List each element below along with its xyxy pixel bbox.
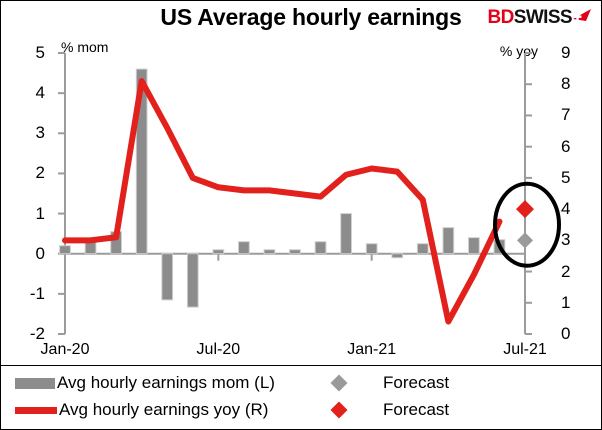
- legend-gray-diamond-icon: [331, 375, 348, 392]
- legend-bar-swatch: [15, 378, 55, 389]
- legend-line-swatch: [15, 407, 57, 414]
- chart-page: US Average hourly earnings BDSWISS % mom…: [0, 0, 602, 430]
- x-axis-tick: Jan-20: [41, 341, 90, 359]
- bar: [392, 254, 403, 258]
- x-axis-tick: Jul-21: [503, 341, 547, 359]
- legend-item-line-label: Avg hourly earnings yoy (R): [59, 400, 268, 420]
- forecast-marker-yoy: [516, 200, 534, 218]
- chart-legend: Avg hourly earnings mom (L) Avg hourly e…: [1, 365, 602, 429]
- bar: [366, 244, 377, 254]
- x-axis-tick: Jan-21: [347, 341, 396, 359]
- bar: [417, 244, 428, 254]
- legend-item-forecast-mom: Forecast: [319, 370, 449, 396]
- bar: [290, 250, 301, 254]
- legend-red-diamond-icon: [331, 402, 348, 419]
- legend-item-line: Avg hourly earnings yoy (R): [15, 397, 268, 423]
- bar: [213, 250, 224, 254]
- bar: [264, 250, 275, 254]
- forecast-highlight-ellipse: [495, 184, 559, 266]
- bar: [315, 242, 326, 254]
- legend-item-forecast-mom-label: Forecast: [383, 373, 449, 393]
- legend-item-bar: Avg hourly earnings mom (L): [15, 370, 275, 396]
- bar: [162, 254, 173, 300]
- legend-item-forecast-yoy: Forecast: [319, 397, 449, 423]
- legend-item-forecast-yoy-label: Forecast: [383, 400, 449, 420]
- bar: [187, 254, 198, 307]
- bar: [60, 246, 71, 254]
- line-series: [65, 81, 499, 321]
- x-axis-tick: Jul-20: [197, 341, 241, 359]
- legend-item-bar-label: Avg hourly earnings mom (L): [57, 373, 275, 393]
- forecast-marker-mom: [517, 232, 533, 248]
- bar: [469, 238, 480, 254]
- bar: [239, 242, 250, 254]
- bar: [443, 228, 454, 254]
- bar: [341, 214, 352, 254]
